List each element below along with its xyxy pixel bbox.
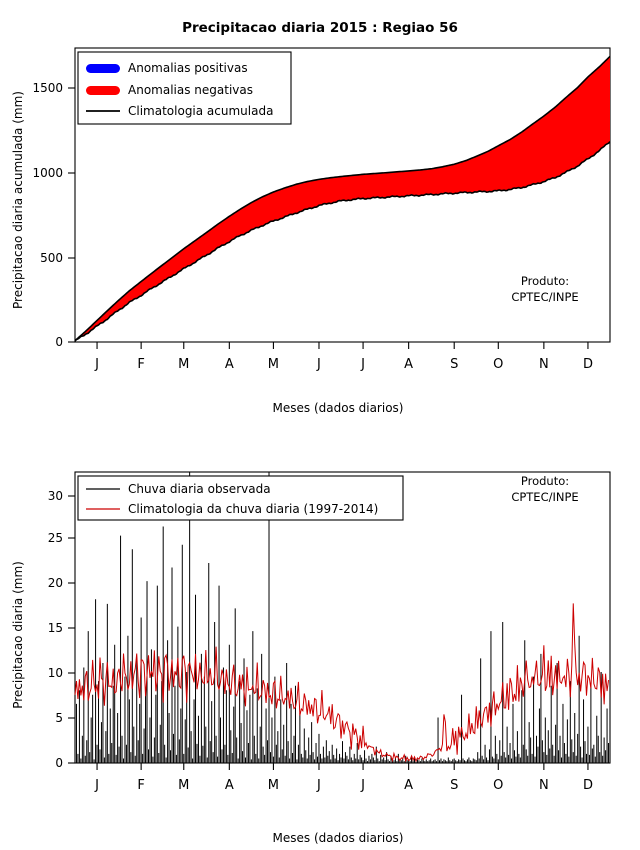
bottom-x-tick-label: O bbox=[493, 778, 503, 793]
bottom-y-tick-15: 15 bbox=[48, 621, 63, 635]
bottom-y-axis-label: Precipitacao diaria (mm) bbox=[11, 561, 25, 709]
bottom-y-tick-0: 0 bbox=[55, 756, 63, 770]
bottom-x-tick-label: J bbox=[94, 778, 99, 793]
bottom-x-tick-label: A bbox=[404, 778, 413, 793]
precipitation-figure: Precipitacao diaria 2015 : Regiao 56 Pre… bbox=[0, 0, 640, 850]
top-x-tick-label: A bbox=[404, 357, 413, 372]
bottom-producer-line2: CPTEC/INPE bbox=[511, 490, 578, 504]
bottom-x-axis-label: Meses (dados diarios) bbox=[273, 831, 404, 845]
bottom-x-tick-label: D bbox=[583, 778, 593, 793]
top-y-tick-500: 500 bbox=[40, 251, 63, 265]
top-y-axis: 1500 1000 500 0 bbox=[32, 81, 75, 349]
top-x-tick-label: O bbox=[493, 357, 503, 372]
top-x-tick-label: J bbox=[360, 357, 365, 372]
top-x-tick-label: S bbox=[450, 357, 458, 372]
daily-precipitation-panel: Precipitacao diaria (mm) Meses (dados di… bbox=[0, 430, 640, 850]
top-x-tick-label: M bbox=[268, 357, 279, 372]
top-x-tick-label: N bbox=[539, 357, 549, 372]
bottom-x-tick-label: J bbox=[316, 778, 321, 793]
bottom-y-tick-25: 25 bbox=[48, 531, 63, 545]
bottom-x-tick-label: M bbox=[268, 778, 279, 793]
top-x-axis-label: Meses (dados diarios) bbox=[273, 401, 404, 415]
top-x-tick-label: F bbox=[137, 357, 144, 372]
legend-label-observed: Chuva diaria observada bbox=[128, 482, 271, 496]
bottom-y-tick-20: 20 bbox=[48, 576, 63, 590]
bottom-y-tick-5: 5 bbox=[55, 711, 63, 725]
top-producer-line1: Produto: bbox=[521, 274, 569, 288]
top-x-axis: JFMAMJJASOND bbox=[94, 342, 593, 372]
bottom-x-axis: JFMAMJJASOND bbox=[94, 763, 593, 793]
chart-title: Precipitacao diaria 2015 : Regiao 56 bbox=[182, 20, 458, 36]
accumulated-precipitation-chart: Precipitacao diaria 2015 : Regiao 56 Pre… bbox=[0, 0, 640, 430]
legend-swatch-negative bbox=[86, 86, 120, 95]
top-producer-line2: CPTEC/INPE bbox=[511, 290, 578, 304]
legend-label-daily-climatology: Climatologia da chuva diaria (1997-2014) bbox=[128, 502, 378, 516]
top-y-axis-label: Precipitacao diaria acumulada (mm) bbox=[11, 91, 25, 309]
bottom-x-tick-label: F bbox=[137, 778, 144, 793]
bottom-producer-annotation: Produto: CPTEC/INPE bbox=[511, 474, 578, 504]
daily-precipitation-chart: Precipitacao diaria (mm) Meses (dados di… bbox=[0, 430, 640, 850]
bottom-x-tick-label: J bbox=[360, 778, 365, 793]
top-x-tick-label: M bbox=[178, 357, 189, 372]
top-y-tick-1500: 1500 bbox=[32, 81, 63, 95]
top-y-tick-0: 0 bbox=[55, 335, 63, 349]
bottom-x-tick-label: A bbox=[225, 778, 234, 793]
bottom-x-tick-label: S bbox=[450, 778, 458, 793]
bottom-x-tick-label: M bbox=[178, 778, 189, 793]
bottom-legend: Chuva diaria observada Climatologia da c… bbox=[78, 476, 403, 520]
bottom-x-tick-label: N bbox=[539, 778, 549, 793]
legend-swatch-positive bbox=[86, 64, 120, 73]
accumulated-precipitation-panel: Precipitacao diaria 2015 : Regiao 56 Pre… bbox=[0, 0, 640, 430]
legend-label-positive: Anomalias positivas bbox=[128, 61, 248, 75]
bottom-y-tick-10: 10 bbox=[48, 666, 63, 680]
legend-label-climatology: Climatologia acumulada bbox=[128, 104, 273, 118]
top-x-tick-label: A bbox=[225, 357, 234, 372]
top-x-tick-label: J bbox=[94, 357, 99, 372]
bottom-y-axis: 30 25 20 15 10 5 0 bbox=[48, 489, 75, 770]
bottom-producer-line1: Produto: bbox=[521, 474, 569, 488]
top-y-tick-1000: 1000 bbox=[32, 166, 63, 180]
top-legend: Anomalias positivas Anomalias negativas … bbox=[78, 52, 291, 124]
top-producer-annotation: Produto: CPTEC/INPE bbox=[511, 274, 578, 304]
top-x-tick-label: J bbox=[316, 357, 321, 372]
legend-label-negative: Anomalias negativas bbox=[128, 83, 253, 97]
top-x-tick-label: D bbox=[583, 357, 593, 372]
daily-climatology-line bbox=[75, 603, 609, 761]
bottom-y-tick-30: 30 bbox=[48, 489, 63, 503]
